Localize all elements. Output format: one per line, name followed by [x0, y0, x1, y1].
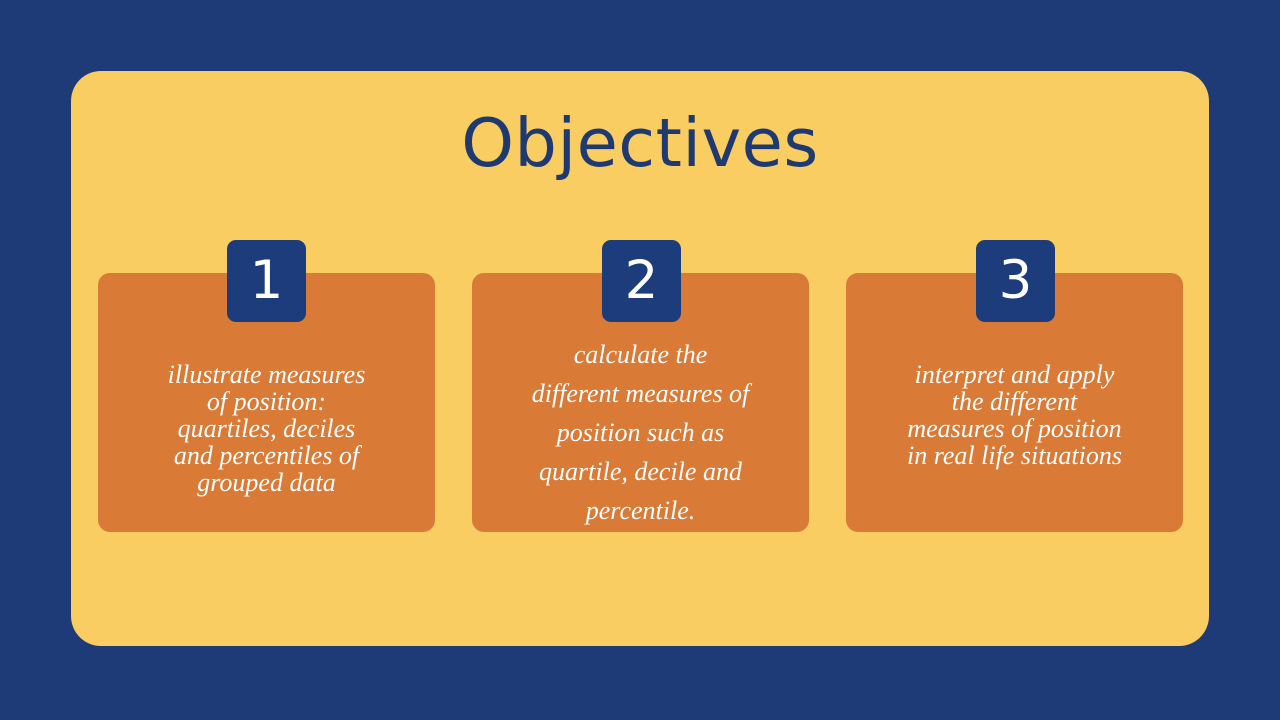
objective-number-badge-2: 2 [602, 240, 681, 322]
slide-canvas: Objectives 1 2 3 illustrate measures of … [0, 0, 1280, 720]
objective-text-3: interpret and apply the different measur… [846, 361, 1183, 469]
objective-text-2: calculate the different measures of posi… [472, 335, 809, 530]
page-title: Objectives [0, 103, 1280, 183]
objective-number-badge-1: 1 [227, 240, 306, 322]
objective-text-1: illustrate measures of position: quartil… [98, 361, 435, 496]
objective-number-badge-3: 3 [976, 240, 1055, 322]
